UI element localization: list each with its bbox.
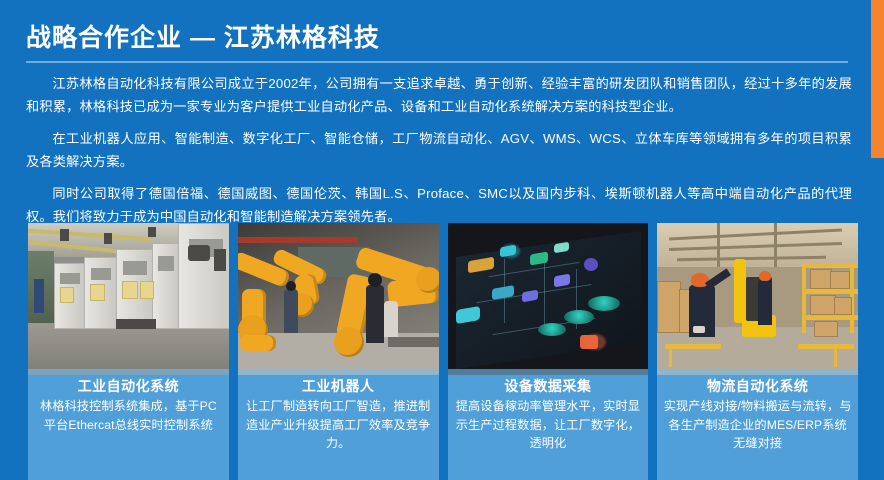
paragraph-2: 在工业机器人应用、智能制造、数字化工厂、智能仓储，工厂物流自动化、AGV、WMS… bbox=[26, 127, 852, 173]
card-text: 实现产线对接/物料搬运与流转，与各生产制造企业的MES/ERP系统无缝对接 bbox=[657, 396, 858, 453]
card-title: 设备数据采集 bbox=[448, 376, 649, 396]
accent-bar-decoration bbox=[871, 0, 884, 158]
card-caption: 工业机器人 让工厂制造转向工厂智造，推进制造业产业升级提高工厂效率及竞争力。 bbox=[238, 369, 439, 480]
card-text: 林格科技控制系统集成，基于PC平台Ethercat总线实时控制系统 bbox=[28, 396, 229, 434]
paragraph-1: 江苏林格自动化科技有限公司成立于2002年，公司拥有一支追求卓越、勇于创新、经验… bbox=[26, 72, 852, 118]
card-logistics-automation[interactable]: 物流自动化系统 实现产线对接/物料搬运与流转，与各生产制造企业的MES/ERP系… bbox=[657, 223, 858, 480]
card-text: 提高设备稼动率管理水平，实时显示生产过程数据，让工厂数字化，透明化 bbox=[448, 396, 649, 453]
card-title: 物流自动化系统 bbox=[657, 376, 858, 396]
card-caption: 工业自动化系统 林格科技控制系统集成，基于PC平台Ethercat总线实时控制系… bbox=[28, 369, 229, 480]
body-copy: 江苏林格自动化科技有限公司成立于2002年，公司拥有一支追求卓越、勇于创新、经验… bbox=[26, 72, 852, 228]
card-equipment-data[interactable]: 设备数据采集 提高设备稼动率管理水平，实时显示生产过程数据，让工厂数字化，透明化 bbox=[448, 223, 649, 480]
card-title: 工业机器人 bbox=[238, 376, 439, 396]
card-industrial-robot[interactable]: 工业机器人 让工厂制造转向工厂智造，推进制造业产业升级提高工厂效率及竞争力。 bbox=[238, 223, 439, 480]
card-text: 让工厂制造转向工厂智造，推进制造业产业升级提高工厂效率及竞争力。 bbox=[238, 396, 439, 453]
card-caption: 物流自动化系统 实现产线对接/物料搬运与流转，与各生产制造企业的MES/ERP系… bbox=[657, 369, 858, 480]
paragraph-3: 同时公司取得了德国倍福、德国威图、德国伦茨、韩国L.S、Proface、SMC以… bbox=[26, 182, 852, 228]
industrial-robot-arms-photo bbox=[238, 223, 439, 375]
warehouse-logistics-photo bbox=[657, 223, 858, 375]
card-industrial-automation[interactable]: 工业自动化系统 林格科技控制系统集成，基于PC平台Ethercat总线实时控制系… bbox=[28, 223, 229, 480]
card-gallery: 工业自动化系统 林格科技控制系统集成，基于PC平台Ethercat总线实时控制系… bbox=[28, 223, 858, 480]
title-divider bbox=[26, 61, 848, 63]
slide-root: 战略合作企业 — 江苏林格科技 江苏林格自动化科技有限公司成立于2002年，公司… bbox=[0, 0, 884, 480]
slide-header: 战略合作企业 — 江苏林格科技 bbox=[26, 22, 852, 63]
page-title: 战略合作企业 — 江苏林格科技 bbox=[26, 22, 852, 54]
card-title: 工业自动化系统 bbox=[28, 376, 229, 396]
industrial-control-cabinets-photo bbox=[28, 223, 229, 375]
digital-factory-isometric-photo bbox=[448, 223, 649, 375]
card-caption: 设备数据采集 提高设备稼动率管理水平，实时显示生产过程数据，让工厂数字化，透明化 bbox=[448, 369, 649, 480]
